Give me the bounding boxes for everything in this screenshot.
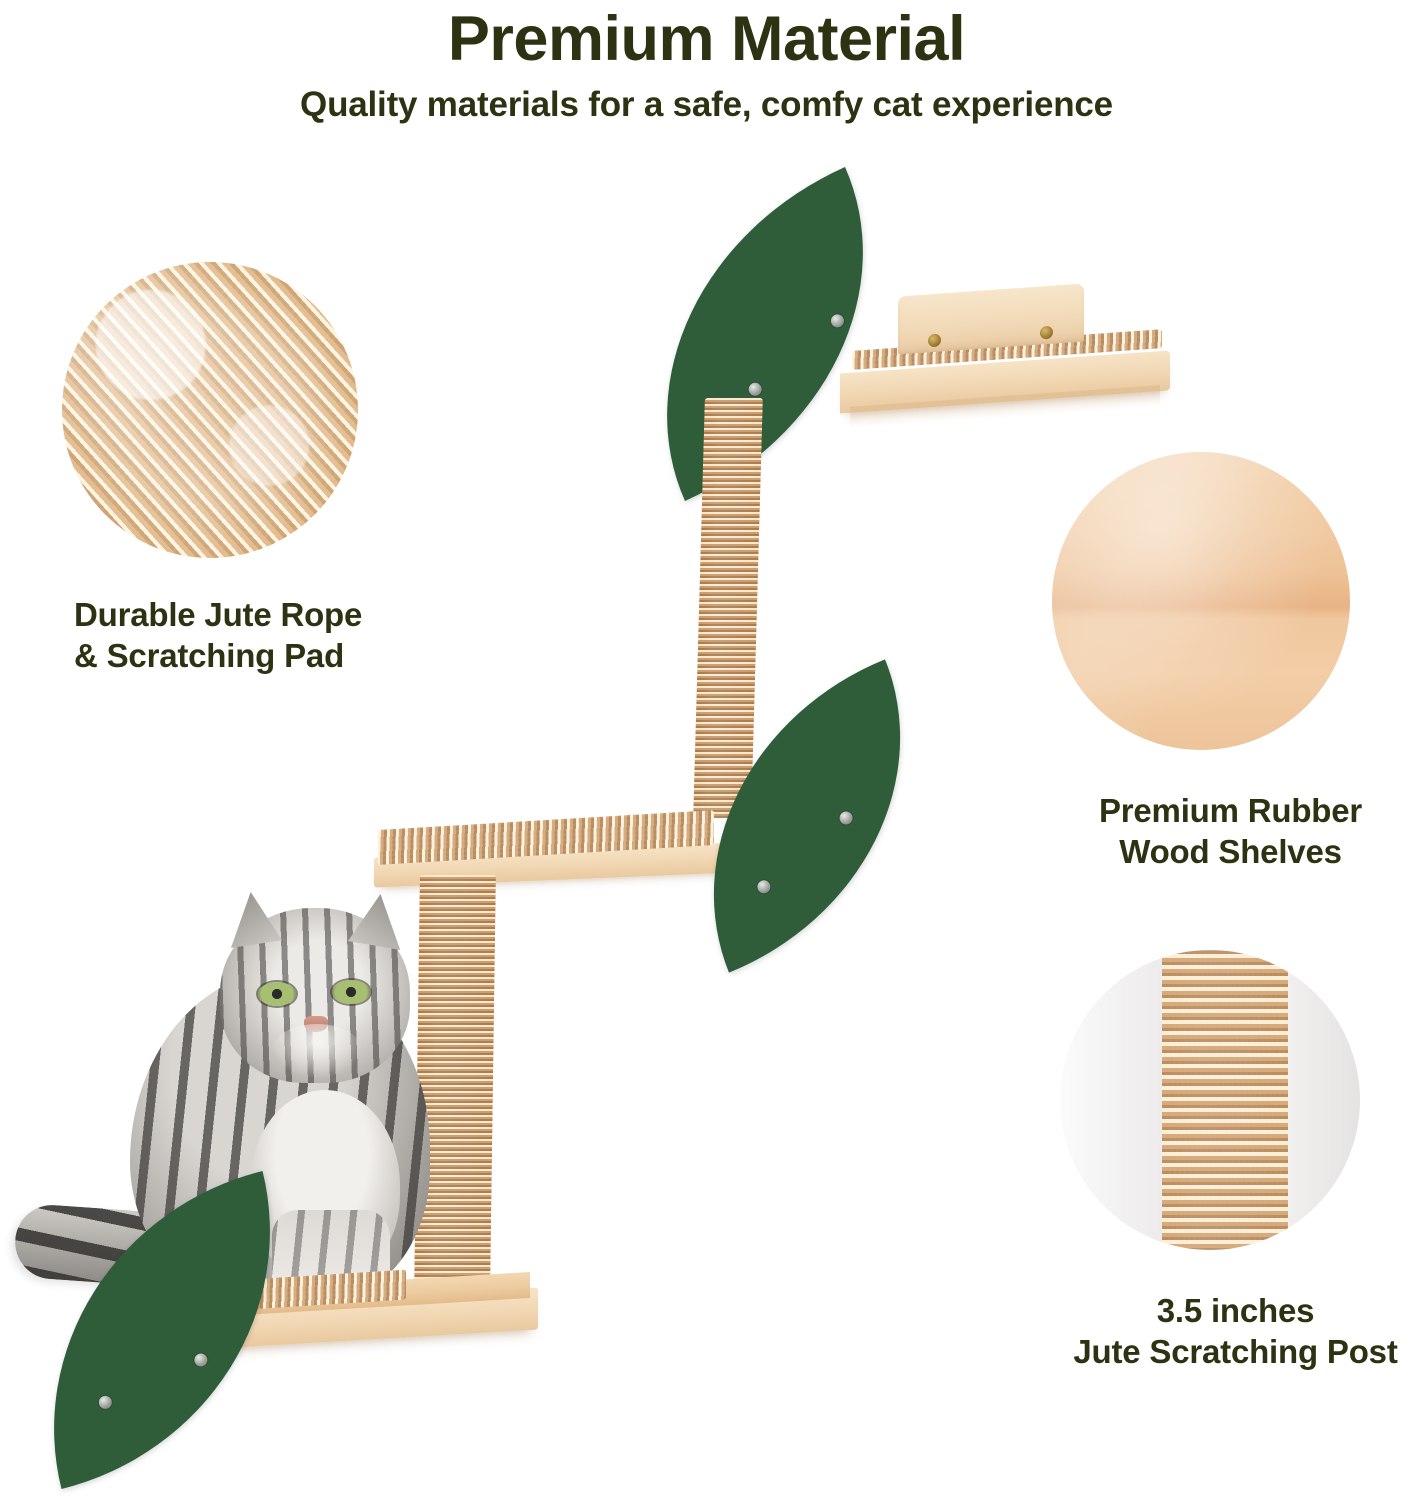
top-shelf-underside xyxy=(850,385,1160,429)
cat-eye-right xyxy=(332,980,370,1004)
cat-body xyxy=(130,970,430,1300)
cat-nose xyxy=(304,1016,328,1032)
page-title: Premium Material xyxy=(0,6,1413,72)
feature-jute-scratching-post: 3.5 inches Jute Scratching Post xyxy=(1058,950,1413,1373)
top-shelf-board xyxy=(840,350,1170,413)
feature-label-wood: Premium Rubber Wood Shelves xyxy=(1048,790,1413,873)
cat-photo xyxy=(120,880,470,1340)
header: Premium Material Quality materials for a… xyxy=(0,0,1413,125)
leaf-screw-left xyxy=(99,1396,112,1409)
post-swatch-cylinder xyxy=(1162,950,1288,1250)
green-leaf-panel-middle xyxy=(642,659,972,972)
cat-head xyxy=(220,908,410,1083)
post-swatch-bg-left xyxy=(1060,950,1168,1250)
feature-label-post: 3.5 inches Jute Scratching Post xyxy=(1058,1290,1413,1373)
page-subtitle: Quality materials for a safe, comfy cat … xyxy=(0,86,1413,125)
top-shelf-backplate xyxy=(898,283,1084,354)
bottom-base-shelf-top xyxy=(126,1272,530,1322)
cat-eye-left xyxy=(258,982,296,1006)
cat-front-legs xyxy=(272,1210,390,1325)
bottom-shelf-jute-mat xyxy=(138,1270,406,1317)
jute-rope-pad-swatch-icon xyxy=(62,262,358,558)
leaf-screw-left xyxy=(757,880,770,893)
cat-ear-right xyxy=(348,894,406,950)
feature-label-jute: Durable Jute Rope & Scratching Pad xyxy=(62,594,482,677)
post-swatch-bg-right xyxy=(1282,950,1360,1250)
middle-shelf-board xyxy=(374,842,734,887)
leaf-screw-right xyxy=(194,1353,207,1366)
cat-muzzle xyxy=(272,1024,362,1078)
cat-chest xyxy=(250,1090,400,1280)
middle-shelf-jute-mat xyxy=(378,810,714,865)
feature-premium-rubber-wood: Premium Rubber Wood Shelves xyxy=(1048,452,1413,873)
top-shelf-jute-mat xyxy=(852,329,1162,370)
green-leaf-panel-bottom xyxy=(0,1171,325,1489)
green-leaf-panel-top xyxy=(587,167,942,501)
rubber-wood-swatch-icon xyxy=(1052,452,1350,750)
lower-jute-scratching-post xyxy=(414,875,496,1290)
leaf-screw-right xyxy=(831,314,844,327)
feature-durable-jute-rope: Durable Jute Rope & Scratching Pad xyxy=(62,262,482,677)
leaf-screw-right xyxy=(840,812,853,825)
backplate-screw-left xyxy=(928,333,941,347)
bottom-base-shelf-board xyxy=(118,1288,538,1355)
cat-ear-left xyxy=(224,892,282,948)
cat-tail xyxy=(13,1203,233,1292)
backplate-screw-right xyxy=(1040,326,1053,340)
jute-scratching-post-swatch-icon xyxy=(1060,950,1360,1250)
top-shelf-left-stub xyxy=(672,372,792,406)
leaf-screw-left xyxy=(749,383,762,396)
upper-jute-scratching-post xyxy=(693,398,763,818)
